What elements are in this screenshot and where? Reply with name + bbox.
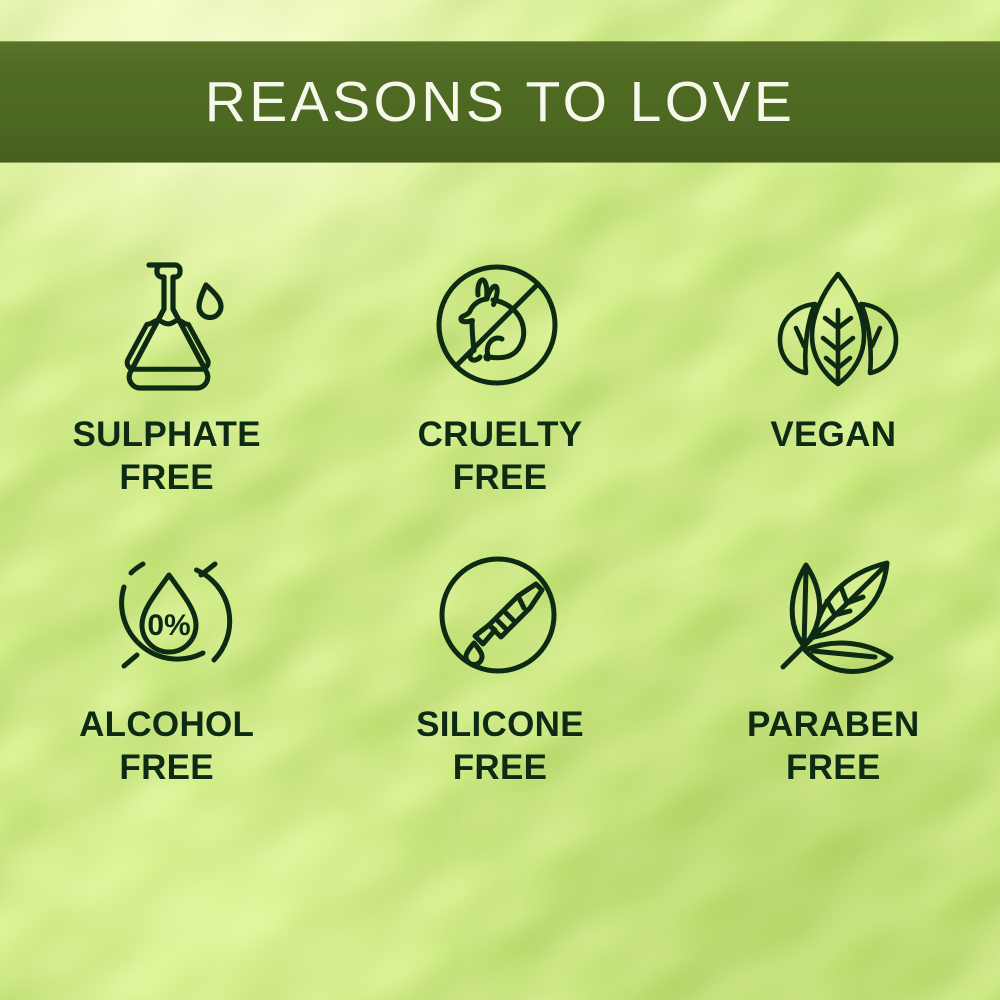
feature-paraben-free: PARABEN FREE xyxy=(667,540,1000,830)
reasons-to-love-poster: REASONS TO LOVE SULPHATE FREE xyxy=(0,0,1000,1000)
no-animal-testing-icon xyxy=(422,250,572,400)
feature-cruelty-free: CRUELTY FREE xyxy=(333,250,666,540)
feature-label: PARABEN FREE xyxy=(747,704,920,789)
feature-label-line2: FREE xyxy=(416,747,584,790)
feature-label-line2: FREE xyxy=(79,747,254,790)
feature-silicone-free: SILICONE FREE xyxy=(333,540,666,830)
page-title: REASONS TO LOVE xyxy=(205,69,796,135)
zero-percent-droplet-icon: 0% xyxy=(94,540,244,690)
feature-label: VEGAN xyxy=(770,414,896,457)
feature-label-line2: FREE xyxy=(418,457,583,500)
feature-label-line1: ALCOHOL xyxy=(79,705,254,744)
leaf-sprig-icon xyxy=(763,540,913,690)
feature-label: CRUELTY FREE xyxy=(418,414,583,499)
feature-label-line1: PARABEN xyxy=(747,705,920,744)
feature-label-line1: CRUELTY xyxy=(418,415,583,454)
feature-label-line1: SULPHATE xyxy=(72,415,260,454)
feature-label: ALCOHOL FREE xyxy=(79,704,254,789)
feature-label-line1: VEGAN xyxy=(770,415,896,454)
feature-label-line1: SILICONE xyxy=(416,705,584,744)
feature-label-line2: FREE xyxy=(72,457,260,500)
feature-alcohol-free: 0% ALCOHOL FREE xyxy=(0,540,333,830)
header-banner: REASONS TO LOVE xyxy=(0,42,1000,162)
zero-percent-text: 0% xyxy=(147,609,190,642)
dropper-pipette-icon xyxy=(423,540,573,690)
feature-sulphate-free: SULPHATE FREE xyxy=(0,250,333,540)
features-grid: SULPHATE FREE xyxy=(0,250,1000,830)
flask-droplet-icon xyxy=(92,250,242,400)
feature-vegan: VEGAN xyxy=(667,250,1000,540)
feature-label-line2: FREE xyxy=(747,747,920,790)
three-leaves-icon xyxy=(763,254,913,404)
feature-label: SULPHATE FREE xyxy=(72,414,260,499)
feature-label: SILICONE FREE xyxy=(416,704,584,789)
